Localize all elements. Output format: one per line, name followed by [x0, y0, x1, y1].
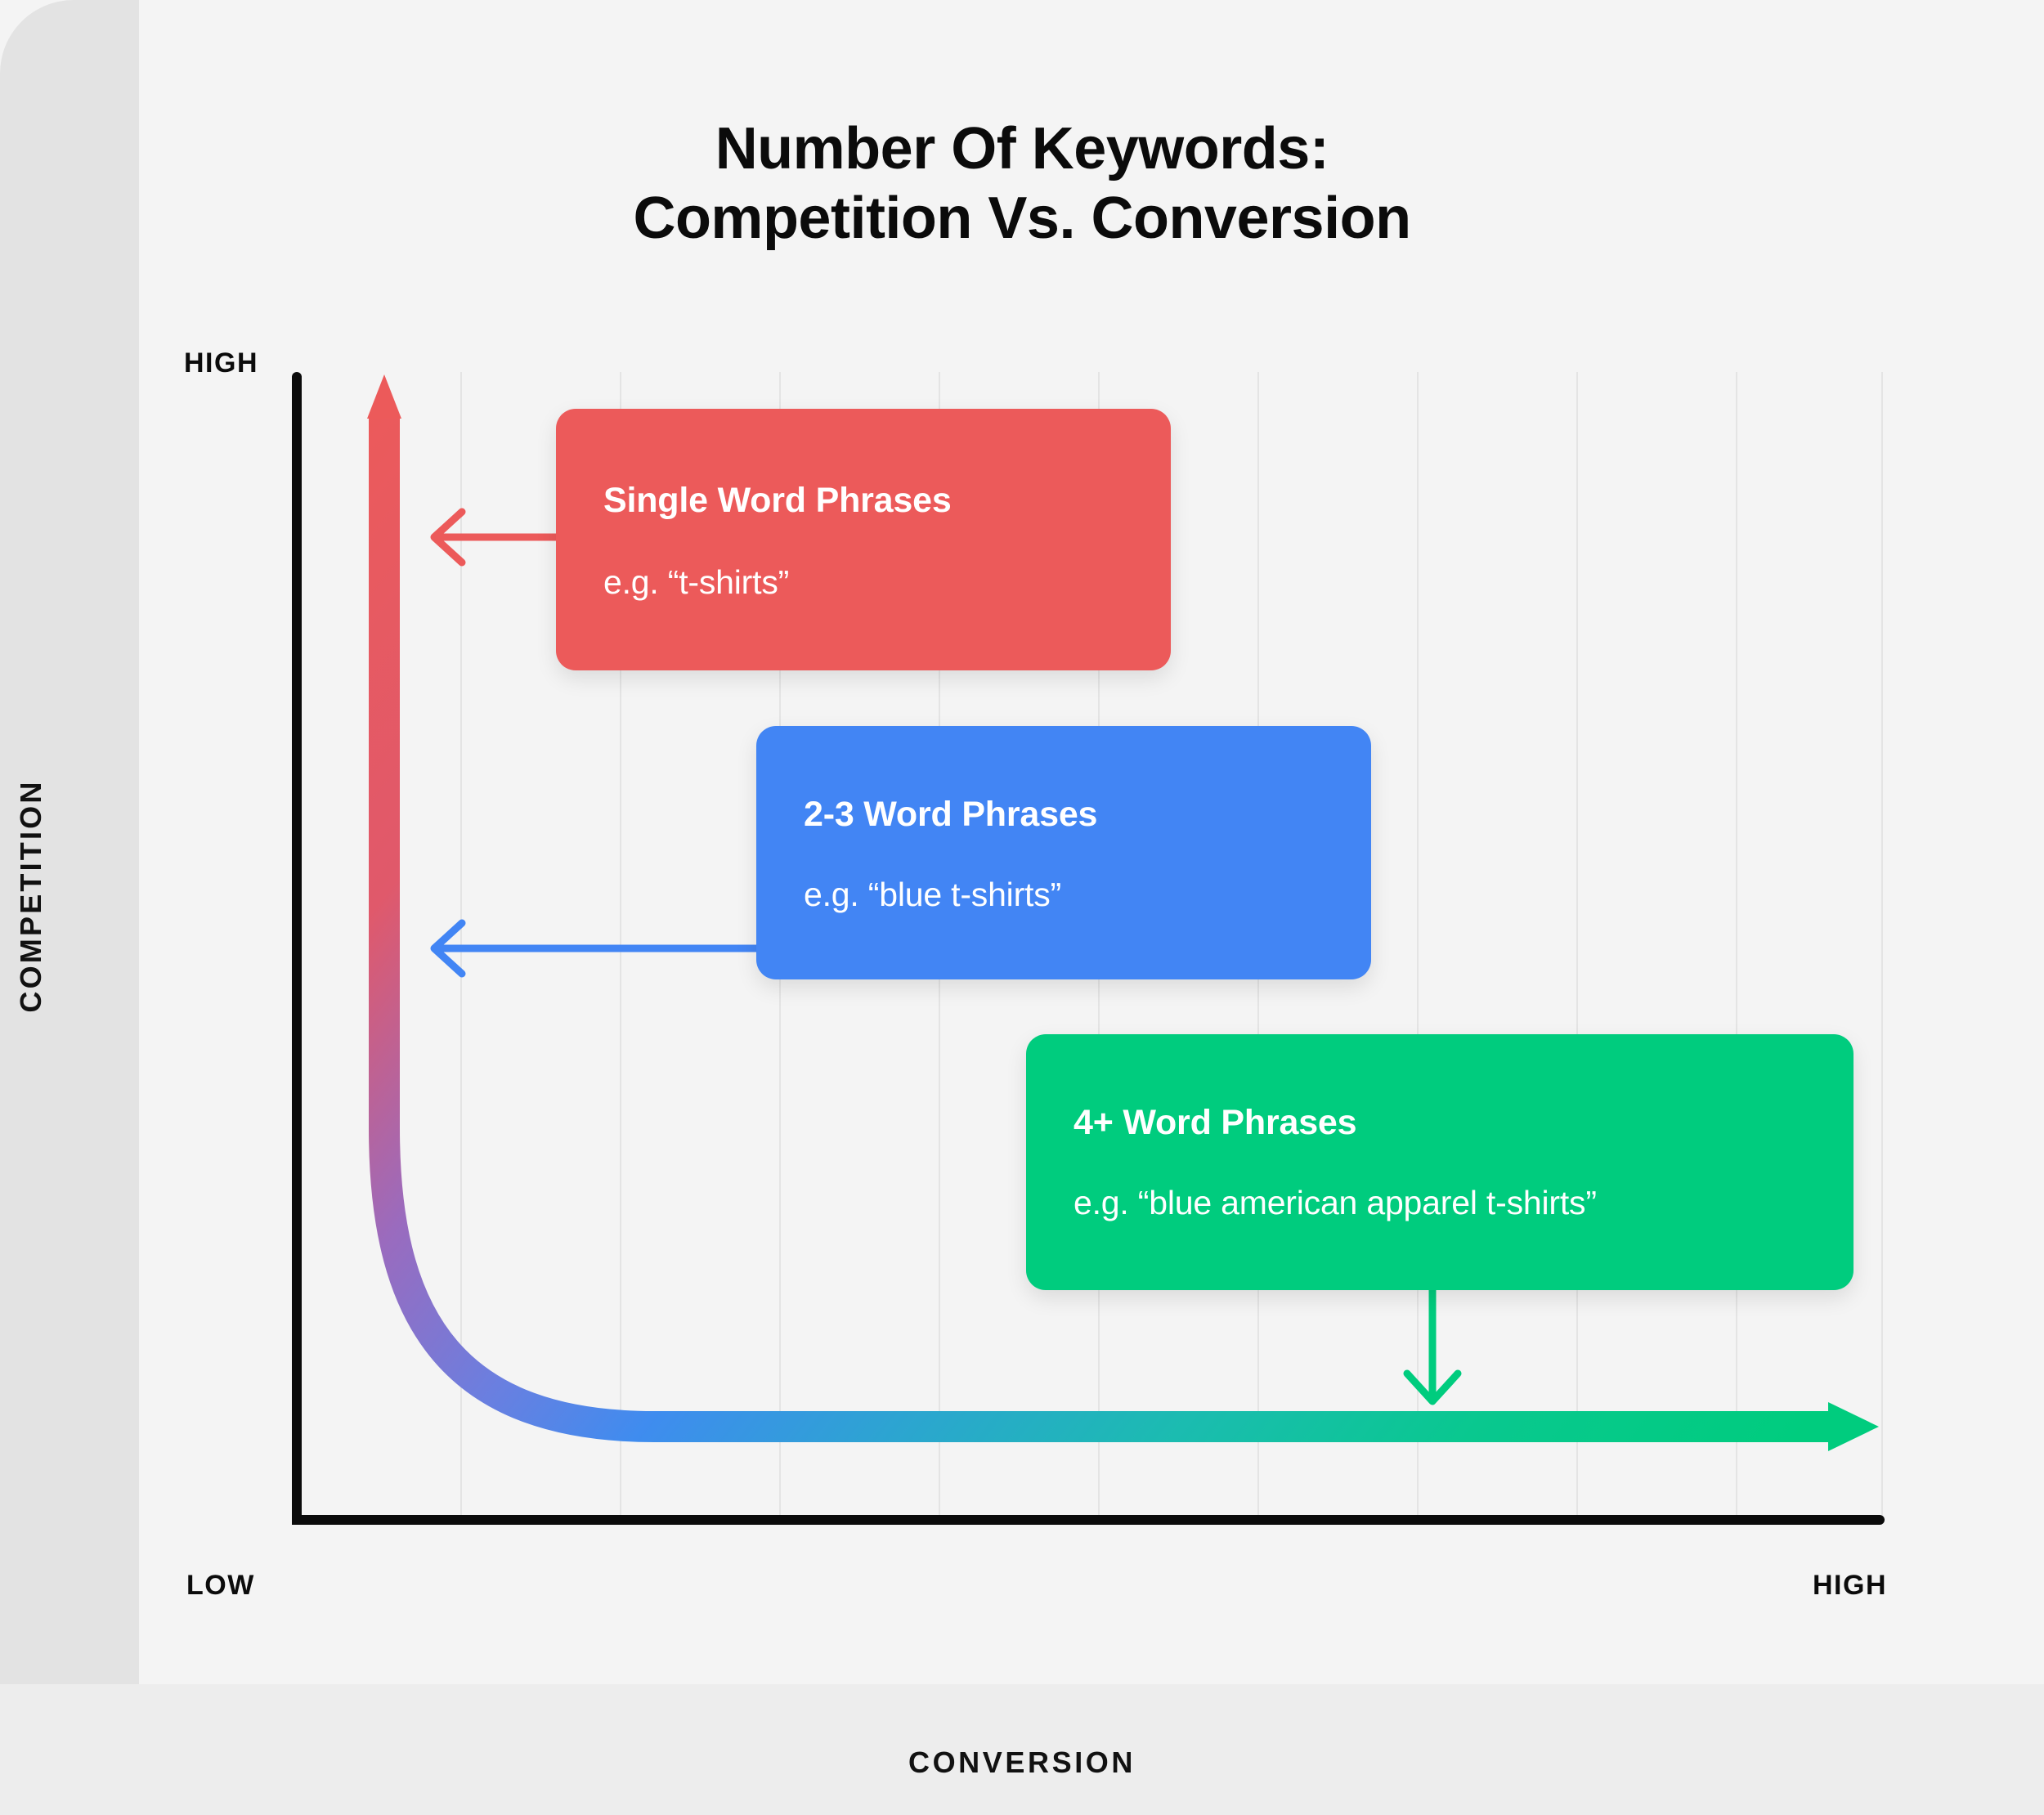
title-line-1: Number Of Keywords: — [715, 116, 1329, 181]
card-2-3-word-phrases[interactable]: 2-3 Word Phrases e.g. “blue t-shirts” — [756, 726, 1371, 979]
card-4-plus-word-phrases[interactable]: 4+ Word Phrases e.g. “blue american appa… — [1026, 1034, 1853, 1290]
card-title: 4+ Word Phrases — [1074, 1103, 1806, 1143]
gridline — [1576, 372, 1578, 1521]
gridline — [1736, 372, 1737, 1521]
x-axis-high-label: HIGH — [1764, 1570, 1887, 1602]
x-axis-title: CONVERSION — [0, 1746, 2044, 1780]
card-example: e.g. “blue t-shirts” — [804, 876, 1324, 914]
card-example: e.g. “t-shirts” — [603, 563, 1123, 602]
x-axis-low-label: LOW — [186, 1570, 255, 1602]
card-title: 2-3 Word Phrases — [804, 795, 1324, 835]
gridline — [1417, 372, 1419, 1521]
card-title: Single Word Phrases — [603, 481, 1123, 521]
gridline — [1881, 372, 1883, 1521]
title-line-2: Competition Vs. Conversion — [327, 184, 1717, 253]
y-axis-title: COMPETITION — [14, 716, 48, 1076]
infographic-root: Number Of Keywords: Competition Vs. Conv… — [0, 0, 2044, 1815]
card-single-word-phrases[interactable]: Single Word Phrases e.g. “t-shirts” — [556, 409, 1171, 670]
page-title: Number Of Keywords: Competition Vs. Conv… — [327, 114, 1717, 253]
y-axis-line — [292, 372, 302, 1525]
y-axis-high-label: HIGH — [184, 347, 258, 379]
card-example: e.g. “blue american apparel t-shirts” — [1074, 1184, 1806, 1222]
x-axis-line — [292, 1515, 1885, 1525]
gridline — [460, 372, 462, 1521]
